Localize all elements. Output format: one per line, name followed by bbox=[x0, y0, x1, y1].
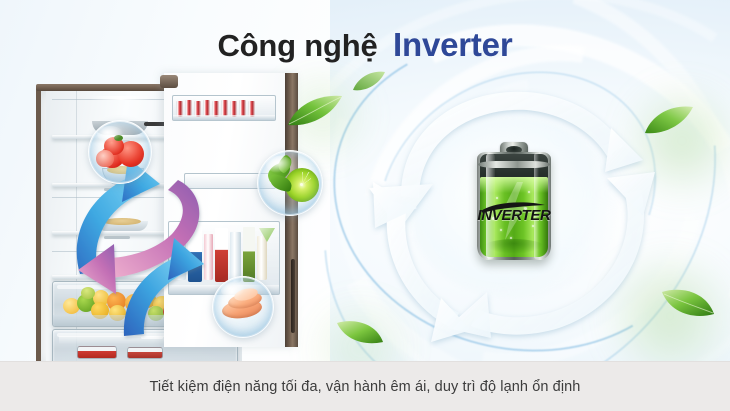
door-bin-cans[interactable] bbox=[172, 95, 276, 121]
bubble-rim bbox=[212, 276, 274, 338]
bubble-rim bbox=[88, 120, 152, 184]
green-haze-1 bbox=[622, 86, 730, 196]
floating-leaf-4 bbox=[336, 318, 384, 346]
battery-top-rim bbox=[478, 161, 550, 168]
floating-leaf-2 bbox=[644, 104, 694, 136]
caption-text: Tiết kiệm điện năng tối đa, vận hành êm … bbox=[150, 379, 581, 395]
bubble-lime bbox=[257, 150, 323, 216]
floating-leaf-1 bbox=[286, 94, 344, 128]
battery-label: INVERTER bbox=[473, 204, 555, 226]
page-title: Công nghệ Inverter bbox=[0, 26, 730, 64]
inverter-technology-banner: INVERTER bbox=[0, 0, 730, 411]
title-primary: Công nghệ bbox=[218, 28, 378, 63]
inverter-battery: INVERTER bbox=[477, 142, 551, 260]
meat-pack-2 bbox=[127, 347, 163, 359]
bubble-rim bbox=[257, 150, 323, 216]
door-hinge bbox=[160, 75, 178, 88]
caption-bar: Tiết kiệm điện năng tối đa, vận hành êm … bbox=[0, 361, 730, 411]
meat-pack-1 bbox=[77, 346, 117, 359]
floating-leaf-3 bbox=[660, 286, 716, 322]
bubble-tomatoes bbox=[88, 120, 152, 184]
title-highlight: Inverter bbox=[393, 26, 512, 63]
floating-leaf-5 bbox=[352, 70, 386, 92]
bubble-salmon bbox=[212, 276, 274, 338]
door-handle[interactable] bbox=[291, 259, 295, 333]
fridge-interior-light bbox=[90, 96, 152, 100]
